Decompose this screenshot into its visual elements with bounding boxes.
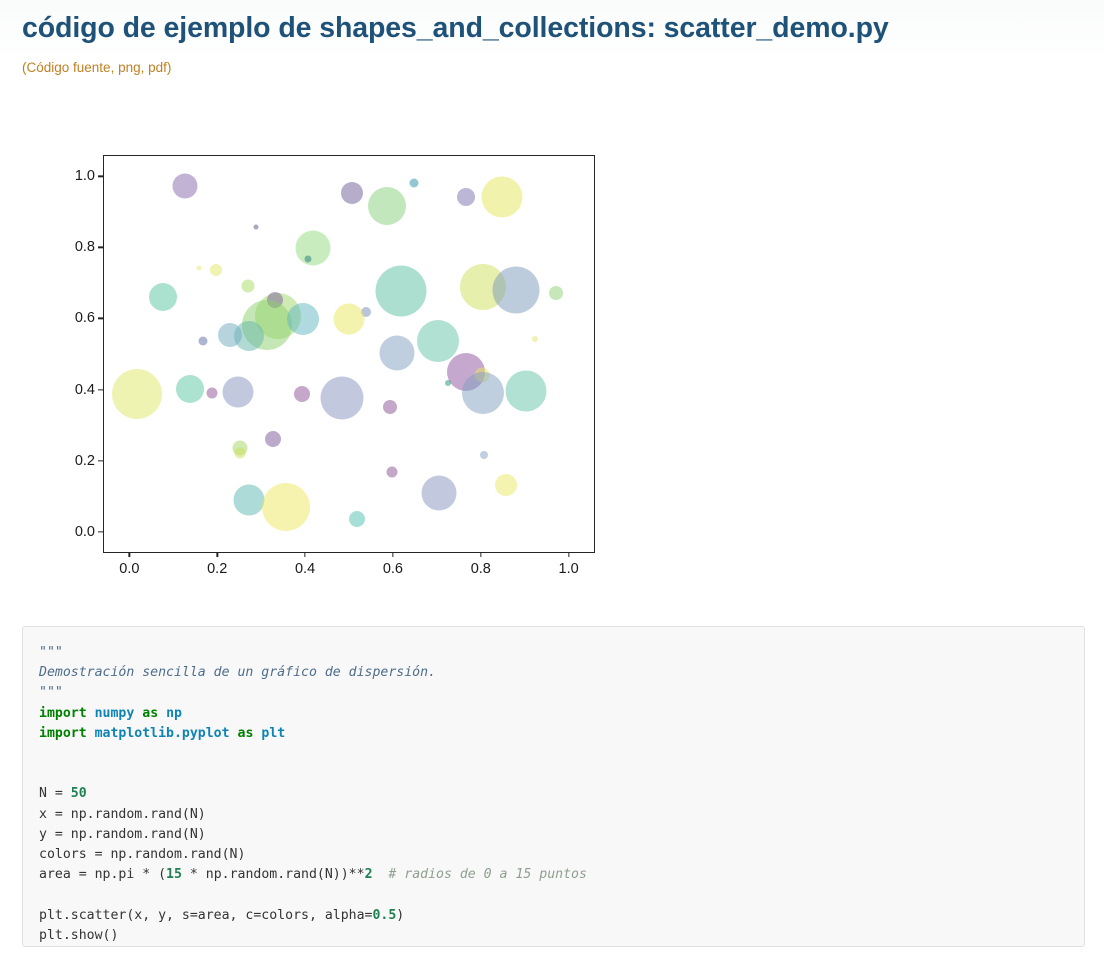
code-token-mod: np — [166, 706, 182, 721]
scatter-point — [532, 336, 538, 342]
x-tick-label: 0.8 — [471, 561, 491, 577]
scatter-point — [233, 484, 264, 515]
scatter-point — [386, 466, 397, 477]
x-tick-mark — [568, 552, 569, 557]
scatter-point — [197, 265, 202, 270]
scatter-point — [445, 380, 451, 386]
code-token-num: 50 — [71, 786, 87, 801]
code-token-kw: import — [39, 726, 87, 741]
x-tick-mark — [217, 552, 218, 557]
scatter-point — [305, 256, 312, 263]
code-token-num: 2 — [365, 867, 373, 882]
scatter-point — [481, 176, 522, 217]
scatter-point — [112, 369, 162, 419]
y-tick-mark — [98, 318, 103, 319]
source-links: (Código fuente, png, pdf) — [22, 60, 171, 75]
code-token-plain: area = np.pi * ( — [39, 867, 166, 882]
scatter-point — [380, 336, 415, 371]
y-tick-mark — [98, 460, 103, 461]
close-paren: ) — [167, 60, 172, 75]
y-tick-mark — [98, 531, 103, 532]
separator-1: , — [111, 60, 119, 75]
scatter-point — [287, 303, 319, 335]
scatter-point — [149, 283, 177, 311]
code-token-plain: * np.random.rand(N))** — [182, 867, 365, 882]
code-token-mod: plt — [261, 726, 285, 741]
scatter-point — [549, 286, 563, 300]
code-token-mod: matplotlib.pyplot — [95, 726, 230, 741]
code-token-kw: import — [39, 706, 87, 721]
scatter-point — [383, 400, 397, 414]
scatter-point — [409, 178, 418, 187]
x-tick-label: 0.6 — [383, 561, 403, 577]
code-token-plain: colors = np.random.rand(N) — [39, 847, 245, 862]
scatter-point — [262, 483, 310, 531]
code-token-doc: """ — [39, 685, 63, 700]
y-tick-label: 0.4 — [75, 382, 95, 398]
scatter-point — [173, 174, 198, 199]
scatter-point — [321, 377, 364, 420]
scatter-point — [505, 370, 546, 411]
y-tick-mark — [98, 389, 103, 390]
scatter-point — [333, 304, 364, 335]
scatter-plot-figure: 0.00.20.40.60.81.0 0.00.20.40.60.81.0 — [0, 118, 680, 598]
code-token-mod: numpy — [95, 706, 135, 721]
separator-2: , — [141, 60, 149, 75]
scatter-point — [417, 320, 459, 362]
code-token-plain: y = np.random.rand(N) — [39, 827, 206, 842]
scatter-point — [242, 280, 255, 293]
code-token-kw: as — [238, 726, 254, 741]
link-codigo-fuente[interactable]: Código fuente — [27, 60, 111, 75]
y-tick-label: 1.0 — [75, 168, 95, 184]
code-block[interactable]: """ Demostración sencilla de un gráfico … — [22, 626, 1085, 947]
code-token-plain — [158, 706, 166, 721]
code-token-plain: plt.scatter(x, y, s=area, c=colors, alph… — [39, 908, 372, 923]
scatter-point — [210, 264, 222, 276]
scatter-point — [295, 231, 330, 266]
scatter-point — [235, 447, 246, 458]
code-token-plain: x = np.random.rand(N) — [39, 807, 206, 822]
y-tick-mark — [98, 176, 103, 177]
scatter-point — [294, 386, 310, 402]
y-tick-label: 0.6 — [75, 310, 95, 326]
x-tick-label: 1.0 — [559, 561, 579, 577]
code-token-plain — [373, 867, 389, 882]
x-tick-label: 0.2 — [207, 561, 227, 577]
x-tick-label: 0.0 — [119, 561, 139, 577]
scatter-point — [206, 388, 217, 399]
scatter-point — [492, 267, 539, 314]
y-tick-mark — [98, 247, 103, 248]
scatter-point — [176, 375, 204, 403]
scatter-point — [253, 225, 258, 230]
scatter-point — [265, 431, 281, 447]
scatter-point — [421, 475, 456, 510]
scatter-point — [341, 182, 363, 204]
code-token-kw: as — [142, 706, 158, 721]
y-tick-label: 0.8 — [75, 239, 95, 255]
scatter-point — [198, 336, 207, 345]
x-tick-mark — [392, 552, 393, 557]
code-token-plain — [87, 706, 95, 721]
code-token-doc: Demostración sencilla de un gráfico de d… — [39, 665, 436, 680]
y-tick-label: 0.0 — [75, 524, 95, 540]
code-token-cmt: # radios de 0 a 15 puntos — [388, 867, 587, 882]
page-title: código de ejemplo de shapes_and_collecti… — [22, 12, 889, 45]
scatter-point — [457, 188, 475, 206]
code-token-num: 0.5 — [372, 908, 396, 923]
code-token-plain: ) — [396, 908, 404, 923]
scatter-point — [480, 451, 488, 459]
link-png[interactable]: png — [118, 60, 141, 75]
x-tick-label: 0.4 — [295, 561, 315, 577]
x-tick-mark — [129, 552, 130, 557]
scatter-point — [495, 474, 517, 496]
code-token-doc: """ — [39, 645, 63, 660]
scatter-point — [222, 376, 253, 407]
scatter-point — [462, 372, 504, 414]
x-tick-mark — [304, 552, 305, 557]
scatter-point — [218, 323, 242, 347]
code-token-plain: plt.show() — [39, 928, 118, 943]
scatter-point — [349, 511, 365, 527]
code-token-plain: N = — [39, 786, 71, 801]
plot-axes-area — [103, 155, 595, 553]
source-code: """ Demostración sencilla de un gráfico … — [23, 627, 1084, 946]
code-token-plain — [230, 726, 238, 741]
scatter-point — [376, 266, 427, 317]
code-token-num: 15 — [166, 867, 182, 882]
code-token-plain — [87, 726, 95, 741]
y-tick-label: 0.2 — [75, 453, 95, 469]
x-tick-mark — [480, 552, 481, 557]
scatter-point — [368, 187, 406, 225]
link-pdf[interactable]: pdf — [148, 60, 167, 75]
